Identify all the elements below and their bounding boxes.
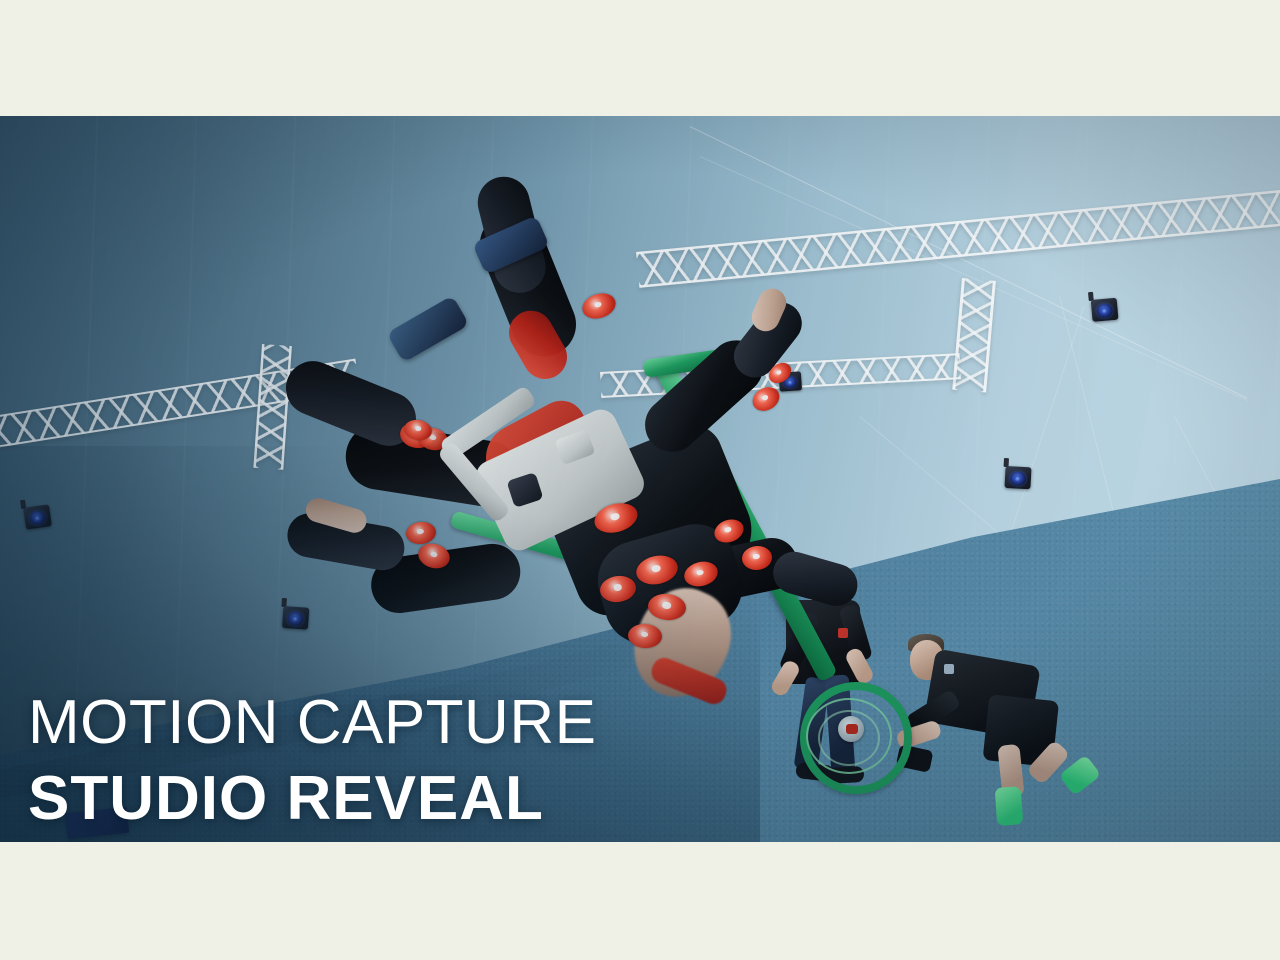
mocap-marker <box>405 520 437 545</box>
video-frame[interactable]: MOTION CAPTURE STUDIO REVEAL BY PLATIGE <box>0 116 1280 842</box>
title-overlay: MOTION CAPTURE STUDIO REVEAL BY PLATIGE <box>28 692 596 842</box>
performer-forearm-left <box>768 547 862 611</box>
letterbox-band-top <box>0 0 1280 116</box>
title-line-2: STUDIO REVEAL <box>28 768 596 830</box>
screenshot-root: MOTION CAPTURE STUDIO REVEAL BY PLATIGE <box>0 0 1280 960</box>
letterbox-band-bottom <box>0 842 1280 960</box>
title-line-1: MOTION CAPTURE <box>28 692 596 754</box>
performer-boot-left <box>387 295 470 362</box>
mocap-marker <box>579 289 619 322</box>
